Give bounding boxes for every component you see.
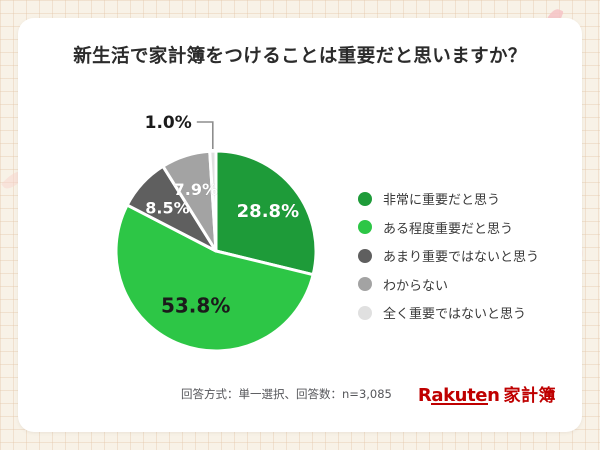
legend-label: 非常に重要だと思う (383, 189, 500, 208)
legend-label: 全く重要ではないと思う (383, 303, 526, 322)
legend-swatch-icon (358, 277, 372, 291)
legend-label: あまり重要ではないと思う (383, 246, 539, 265)
legend-swatch-icon (358, 192, 372, 206)
pie-chart-svg: 28.8%53.8%8.5%7.9%1.0% (78, 108, 368, 378)
content-card: 新生活で家計簿をつけることは重要だと思いますか？ 28.8%53.8%8.5%7… (18, 18, 582, 432)
survey-note: 回答方式：単一選択、回答数：n=3,085 (181, 386, 392, 402)
legend-item-3[interactable]: わからない (358, 272, 578, 297)
pie-leader-line (197, 122, 213, 149)
pie-slice-value-label: 28.8% (237, 201, 299, 222)
legend-item-1[interactable]: ある程度重要だと思う (358, 215, 578, 240)
legend-label: わからない (383, 275, 448, 294)
pie-slice-value-label: 7.9% (174, 180, 218, 199)
logo-wordmark: Rakuten (418, 385, 500, 406)
legend-label: ある程度重要だと思う (383, 218, 513, 237)
chart-legend: 非常に重要だと思う ある程度重要だと思う あまり重要ではないと思う わからない … (358, 186, 578, 329)
pie-chart: 28.8%53.8%8.5%7.9%1.0% (78, 108, 368, 378)
legend-swatch-icon (358, 306, 372, 320)
page-title: 新生活で家計簿をつけることは重要だと思いますか？ (18, 42, 582, 68)
legend-item-0[interactable]: 非常に重要だと思う (358, 186, 578, 211)
footer: 回答方式：単一選択、回答数：n=3,085 Rakuten 家計簿 (18, 381, 556, 406)
legend-swatch-icon (358, 220, 372, 234)
pie-slice-value-label: 1.0% (145, 113, 192, 133)
pie-leader-polyline (197, 122, 213, 149)
pie-slice-value-label: 8.5% (145, 198, 189, 217)
legend-item-4[interactable]: 全く重要ではないと思う (358, 300, 578, 325)
legend-swatch-icon (358, 249, 372, 263)
rakuten-kakeibo-logo: Rakuten 家計簿 (418, 381, 556, 406)
logo-product-name: 家計簿 (504, 381, 557, 406)
pie-slice-value-label: 53.8% (161, 293, 230, 317)
infographic-canvas: 新生活で家計簿をつけることは重要だと思いますか？ 28.8%53.8%8.5%7… (0, 0, 600, 450)
legend-item-2[interactable]: あまり重要ではないと思う (358, 243, 578, 268)
